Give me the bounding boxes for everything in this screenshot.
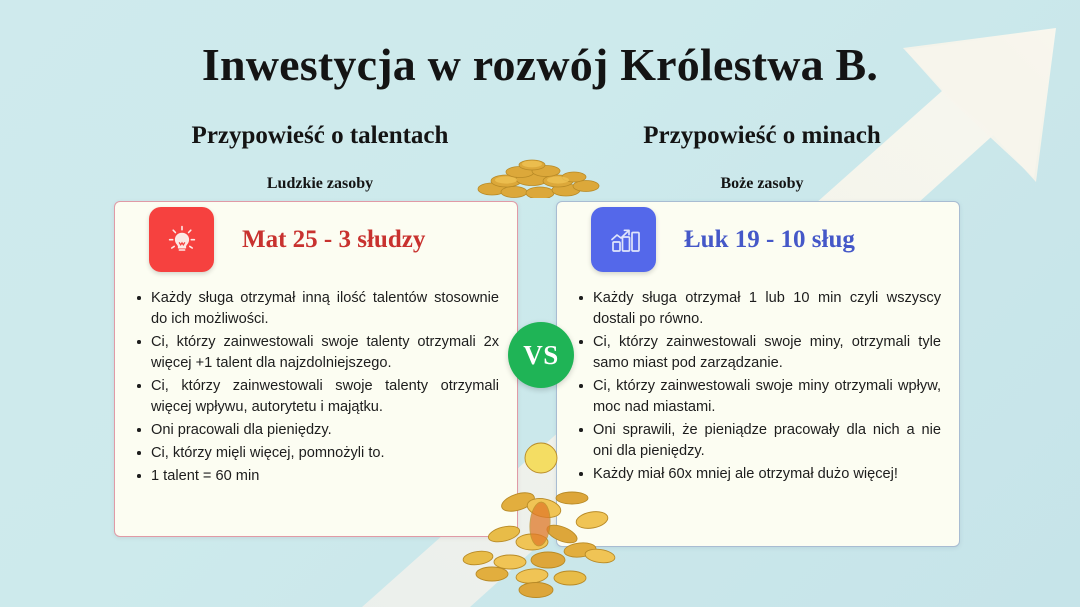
column-heading-talents: Przypowieść o talentach — [110, 122, 530, 150]
list-item: Oni pracowali dla pieniędzy. — [135, 420, 499, 441]
card-talents: Mat 25 - 3 słudzy Każdy sługa otrzymał i… — [114, 201, 518, 537]
bullet-list-talents: Każdy sługa otrzymał inną ilość talentów… — [115, 266, 517, 487]
page-title: Inwestycja w rozwój Królestwa B. — [0, 38, 1080, 91]
list-item: Ci, którzy zainwestowali swoje talenty o… — [135, 376, 499, 418]
card-header-talents: Mat 25 - 3 słudzy — [115, 202, 517, 266]
list-item: Oni sprawili, że pieniądze pracowały dla… — [577, 420, 941, 462]
list-item: Każdy sługa otrzymał inną ilość talentów… — [135, 288, 499, 330]
list-item: Ci, którzy zainwestowali swoje talenty o… — [135, 332, 499, 374]
card-header-minas: Łuk 19 - 10 sług — [557, 202, 959, 266]
infographic-slide: Inwestycja w rozwój Królestwa B. Przypow… — [0, 0, 1080, 607]
bullet-list-minas: Każdy sługa otrzymał 1 lub 10 min czyli … — [557, 266, 959, 485]
card-minas: Łuk 19 - 10 sług Każdy sługa otrzymał 1 … — [556, 201, 960, 547]
list-item: Ci, którzy mięli więcej, pomnożyli to. — [135, 443, 499, 464]
list-item: 1 talent = 60 min — [135, 466, 499, 487]
card-title-minas: Łuk 19 - 10 sług — [684, 226, 855, 254]
lightbulb-icon — [149, 207, 214, 272]
list-item: Ci, którzy zainwestowali swoje miny otrz… — [577, 376, 941, 418]
card-title-talents: Mat 25 - 3 słudzy — [242, 226, 425, 254]
list-item: Ci, którzy zainwestowali swoje miny, otr… — [577, 332, 941, 374]
vs-badge: VS — [508, 322, 574, 388]
gold-coins-icon — [462, 156, 618, 198]
bar-chart-growth-icon — [591, 207, 656, 272]
list-item: Każdy sługa otrzymał 1 lub 10 min czyli … — [577, 288, 941, 330]
column-heading-minas: Przypowieść o minach — [552, 122, 972, 150]
list-item: Każdy miał 60x mniej ale otrzymał dużo w… — [577, 464, 941, 485]
